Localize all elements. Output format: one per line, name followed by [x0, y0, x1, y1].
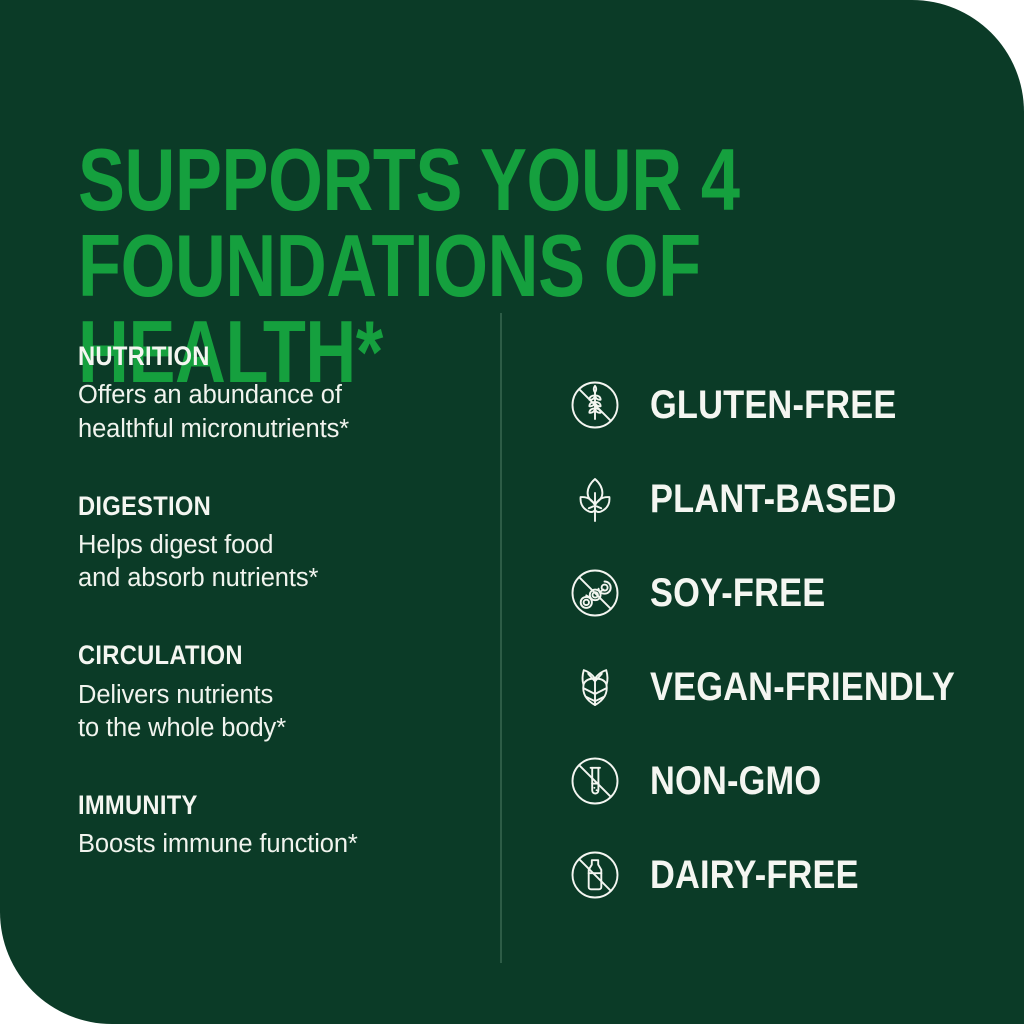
- foundation-description: Helps digest food and absorb nutrients*: [78, 529, 478, 595]
- badge-gluten-free: GLUTEN-FREE: [566, 372, 986, 438]
- badge-label: VEGAN-FRIENDLY: [650, 667, 955, 707]
- foundation-item-digestion: DIGESTION Helps digest food and absorb n…: [78, 490, 478, 596]
- vegan-leaves-icon: [566, 658, 624, 716]
- badge-label: PLANT-BASED: [650, 479, 897, 519]
- foundation-title: NUTRITION: [78, 340, 430, 372]
- badge-plant-based: PLANT-BASED: [566, 466, 986, 532]
- certification-badges-list: GLUTEN-FREE PLANT-BASED: [566, 372, 986, 908]
- badge-label: GLUTEN-FREE: [650, 385, 897, 425]
- plant-leaves-icon: [566, 470, 624, 528]
- foundation-item-nutrition: NUTRITION Offers an abundance of healthf…: [78, 340, 478, 446]
- badge-label: DAIRY-FREE: [650, 855, 859, 895]
- foundation-item-circulation: CIRCULATION Delivers nutrients to the wh…: [78, 639, 478, 745]
- foundation-title: DIGESTION: [78, 490, 430, 522]
- foundation-description: Boosts immune function*: [78, 828, 478, 861]
- badge-vegan-friendly: VEGAN-FRIENDLY: [566, 654, 986, 720]
- no-milk-bottle-icon: [566, 846, 624, 904]
- badge-label: SOY-FREE: [650, 573, 825, 613]
- foundation-title: CIRCULATION: [78, 639, 430, 671]
- badge-non-gmo: NON-GMO: [566, 748, 986, 814]
- badge-soy-free: SOY-FREE: [566, 560, 986, 626]
- foundation-item-immunity: IMMUNITY Boosts immune function*: [78, 789, 478, 862]
- foundations-list: NUTRITION Offers an abundance of healthf…: [78, 340, 478, 862]
- badge-label: NON-GMO: [650, 761, 821, 801]
- no-wheat-icon: [566, 376, 624, 434]
- foundations-of-health-card: SUPPORTS YOUR 4 FOUNDATIONS OF HEALTH* N…: [0, 0, 1024, 1024]
- no-soybean-icon: [566, 564, 624, 622]
- column-divider: [500, 313, 502, 963]
- badge-dairy-free: DAIRY-FREE: [566, 842, 986, 908]
- foundation-description: Delivers nutrients to the whole body*: [78, 679, 478, 745]
- no-test-tube-icon: [566, 752, 624, 810]
- foundation-description: Offers an abundance of healthful micronu…: [78, 379, 478, 445]
- foundation-title: IMMUNITY: [78, 789, 430, 821]
